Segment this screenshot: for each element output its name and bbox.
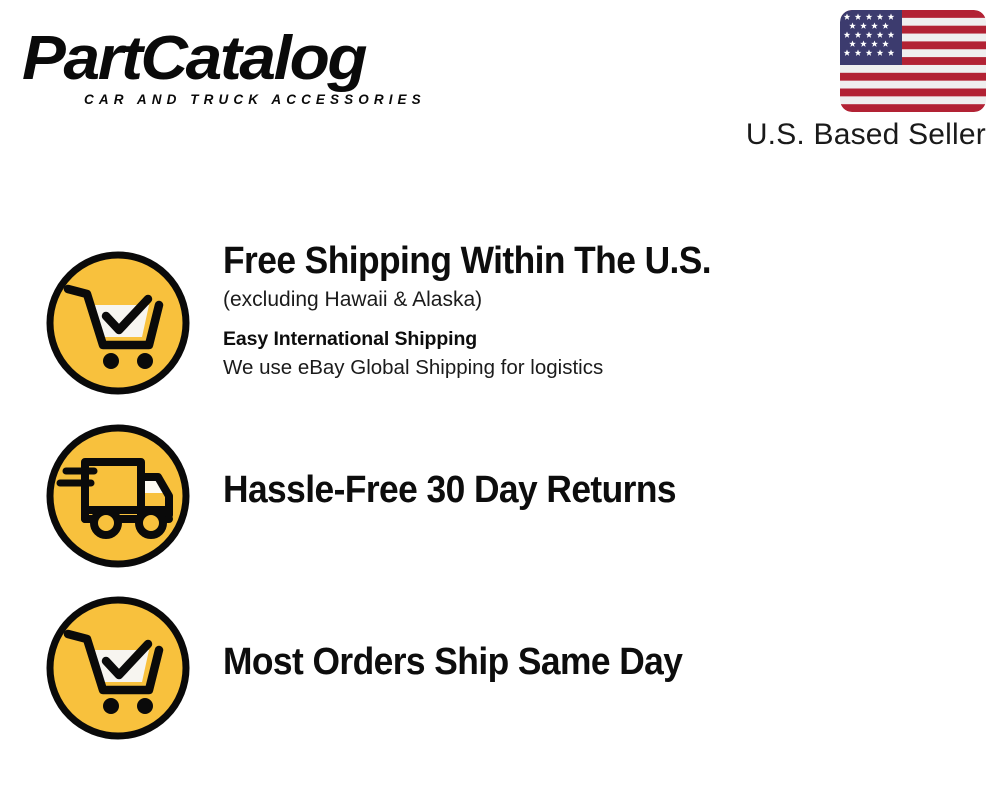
benefit-text: Hassle-Free 30 Day Returns — [223, 468, 983, 512]
benefit-subtext: (excluding Hawaii & Alaska) — [223, 285, 983, 315]
page-header: PartCatalog CAR AND TRUCK ACCESSORIES — [0, 0, 1000, 170]
benefit-heading: Hassle-Free 30 Day Returns — [223, 468, 930, 512]
benefit-subtext-detail: We use eBay Global Shipping for logistic… — [223, 353, 983, 383]
benefit-text: Free Shipping Within The U.S. (excluding… — [223, 239, 983, 383]
brand-tagline: CAR AND TRUCK ACCESSORIES — [84, 92, 426, 107]
benefit-row: Most Orders Ship Same Day — [0, 590, 1000, 760]
benefit-subtext-strong: Easy International Shipping — [223, 325, 983, 353]
benefit-text: Most Orders Ship Same Day — [223, 640, 983, 684]
brand-wordmark: PartCatalog — [22, 24, 365, 94]
seller-label: U.S. Based Seller — [706, 118, 986, 152]
shopping-cart-check-icon — [44, 594, 192, 742]
shopping-cart-check-icon — [44, 249, 192, 397]
benefit-heading: Most Orders Ship Same Day — [223, 640, 930, 684]
benefit-row: Free Shipping Within The U.S. (excluding… — [0, 245, 1000, 415]
seller-badge: U.S. Based Seller — [706, 10, 986, 152]
brand-logo[interactable]: PartCatalog CAR AND TRUCK ACCESSORIES — [22, 24, 492, 116]
benefit-row: Hassle-Free 30 Day Returns — [0, 418, 1000, 588]
benefit-heading: Free Shipping Within The U.S. — [223, 239, 930, 283]
us-flag-icon — [840, 10, 986, 112]
delivery-truck-icon — [44, 422, 192, 570]
